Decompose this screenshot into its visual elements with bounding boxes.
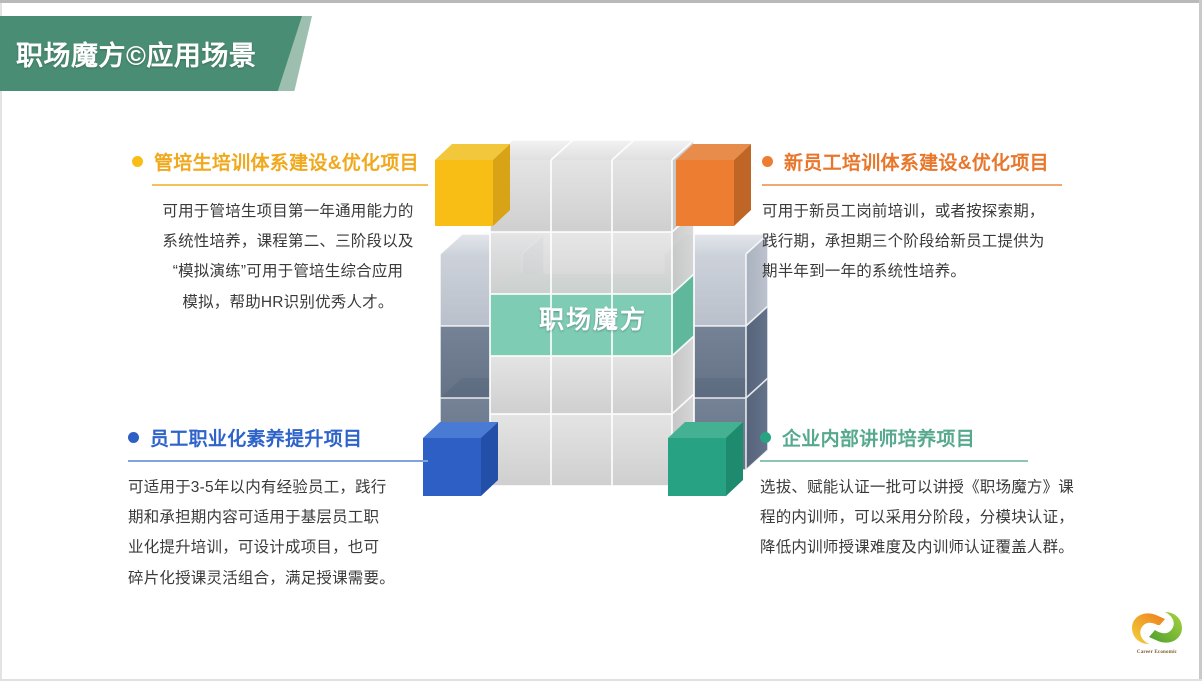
corner-cube-orange [676, 144, 751, 226]
company-logo: Career Economic [1126, 606, 1188, 662]
callout-heading-row: 新员工培训体系建设&优化项目 [762, 148, 1080, 175]
callout-heading-row: 管培生培训体系建设&优化项目 [132, 148, 444, 175]
body-line: 碎片化授课灵活组合，满足授课需要。 [128, 564, 440, 594]
callout-title: 员工职业化素养提升项目 [150, 424, 362, 451]
body-line: 期和承担期内容可适用于基层员工职 [128, 503, 440, 533]
cube-artwork-svg [418, 138, 768, 506]
callout-title: 管培生培训体系建设&优化项目 [154, 148, 419, 175]
corner-cube-green [668, 422, 743, 496]
bullet-icon [762, 156, 773, 167]
bullet-icon [132, 156, 143, 167]
body-line: 可用于新员工岗前培训，或者按探索期， [762, 197, 1080, 227]
body-line: 践行期，承担期三个阶段给新员工提供为 [762, 227, 1080, 257]
callout-title: 企业内部讲师培养项目 [782, 424, 975, 451]
callout-body: 可用于新员工岗前培训，或者按探索期， 践行期，承担期三个阶段给新员工提供为 期半… [762, 197, 1080, 288]
callout-heading-row: 企业内部讲师培养项目 [760, 424, 1090, 451]
rubiks-cube-illustration: 职场魔方 [418, 138, 768, 506]
page-title: 职场魔方©应用场景 [16, 16, 256, 91]
callout-top-right: 新员工培训体系建设&优化项目 可用于新员工岗前培训，或者按探索期， 践行期，承担… [762, 148, 1080, 288]
callout-title: 新员工培训体系建设&优化项目 [784, 148, 1049, 175]
callout-heading-row: 员工职业化素养提升项目 [128, 424, 440, 451]
callout-divider [128, 460, 428, 462]
callout-body: 选拔、赋能认证一批可以讲授《职场魔方》课 程的内训师，可以采用分阶段，分模块认证… [760, 473, 1090, 564]
body-line: 系统性培养，课程第二、三阶段以及 [132, 227, 444, 257]
body-line: 降低内训师授课难度及内训师认证覆盖人群。 [760, 533, 1090, 563]
callout-bottom-right: 企业内部讲师培养项目 选拔、赋能认证一批可以讲授《职场魔方》课 程的内训师，可以… [760, 424, 1090, 564]
slide-canvas: 职场魔方©应用场景 [0, 0, 1202, 681]
body-line: 业化提升培训，可设计成项目，也可 [128, 533, 440, 563]
logo-swirl-icon [1126, 606, 1188, 650]
body-line: 可用于管培生项目第一年通用能力的 [132, 197, 444, 227]
callout-bottom-left: 员工职业化素养提升项目 可适用于3-5年以内有经验员工，践行 期和承担期内容可适… [128, 424, 440, 594]
callout-divider [760, 460, 1028, 462]
bullet-icon [128, 432, 139, 443]
body-line: 选拔、赋能认证一批可以讲授《职场魔方》课 [760, 473, 1090, 503]
bullet-icon [760, 432, 771, 443]
body-line: 程的内训师，可以采用分阶段，分模块认证， [760, 503, 1090, 533]
slide-border-top [0, 0, 1202, 3]
corner-cube-yellow [435, 144, 510, 226]
callout-divider [152, 184, 428, 186]
body-line: 可适用于3-5年以内有经验员工，践行 [128, 473, 440, 503]
callout-body: 可适用于3-5年以内有经验员工，践行 期和承担期内容可适用于基层员工职 业化提升… [128, 473, 440, 594]
slide-border-left [0, 3, 2, 681]
callout-body: 可用于管培生项目第一年通用能力的 系统性培养，课程第二、三阶段以及 “模拟演练”… [132, 197, 444, 318]
body-line: “模拟演练”可用于管培生综合应用 [132, 257, 444, 287]
callout-divider [762, 184, 1062, 186]
logo-caption: Career Economic [1126, 650, 1188, 655]
center-cube [490, 140, 694, 486]
body-line: 期半年到一年的系统性培养。 [762, 257, 1080, 287]
callout-top-left: 管培生培训体系建设&优化项目 可用于管培生项目第一年通用能力的 系统性培养，课程… [132, 148, 444, 318]
body-line: 模拟，帮助HR识别优秀人才。 [132, 288, 444, 318]
